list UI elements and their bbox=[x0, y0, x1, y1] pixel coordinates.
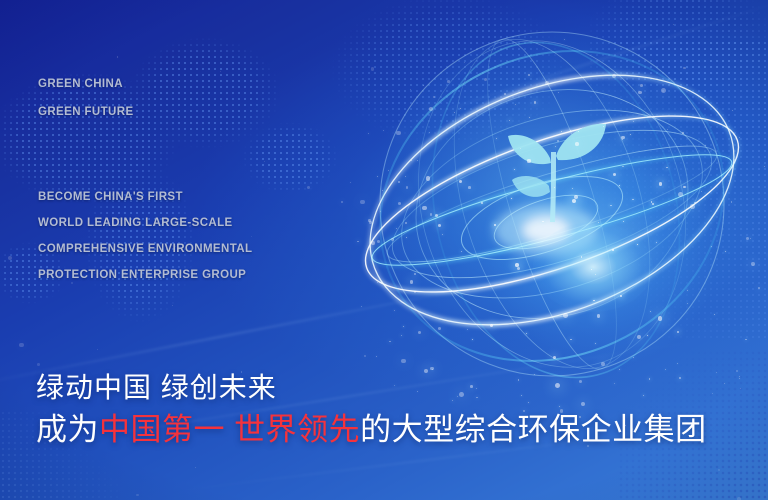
star-particle bbox=[666, 167, 668, 169]
star-particle bbox=[37, 363, 40, 366]
mission-statement-block: BECOME CHINA'S FIRST WORLD LEADING LARGE… bbox=[38, 184, 252, 288]
star-particle bbox=[460, 108, 461, 109]
star-particle bbox=[438, 224, 441, 227]
star-particle bbox=[514, 169, 515, 170]
star-particle bbox=[417, 160, 418, 161]
star-particle bbox=[764, 166, 765, 167]
headline-prefix: 成为 bbox=[36, 412, 99, 447]
star-particle bbox=[454, 112, 455, 113]
star-particle bbox=[481, 202, 484, 205]
headline-line-1: 绿动中国 绿创未来 bbox=[36, 368, 707, 408]
star-particle bbox=[401, 359, 406, 364]
star-particle bbox=[621, 136, 624, 139]
star-particle bbox=[429, 107, 433, 111]
star-particle bbox=[563, 313, 568, 318]
star-particle bbox=[307, 186, 310, 189]
mission-line-2: WORLD LEADING LARGE-SCALE bbox=[38, 210, 252, 236]
star-particle bbox=[542, 221, 543, 222]
star-particle bbox=[464, 62, 465, 63]
dotted-world-map-texture-top bbox=[300, 0, 768, 220]
star-particle bbox=[423, 85, 424, 86]
star-particle bbox=[612, 74, 616, 78]
mission-line-4: PROTECTION ENTERPRISE GROUP bbox=[38, 262, 252, 288]
light-sweep-4 bbox=[390, 0, 768, 129]
star-particle bbox=[528, 74, 530, 76]
star-particle bbox=[383, 130, 384, 131]
star-particle bbox=[490, 324, 493, 327]
star-particle bbox=[687, 303, 688, 304]
star-particle bbox=[659, 182, 662, 185]
star-particle bbox=[377, 240, 380, 243]
star-particle bbox=[612, 249, 614, 251]
star-particle bbox=[575, 142, 579, 146]
star-particle bbox=[613, 173, 616, 176]
star-particle bbox=[725, 251, 726, 252]
star-particle bbox=[364, 355, 366, 357]
star-particle bbox=[19, 343, 24, 348]
star-particle bbox=[396, 228, 397, 229]
star-particle bbox=[638, 91, 642, 95]
star-particle bbox=[442, 234, 443, 235]
star-particle bbox=[195, 467, 196, 468]
star-particle bbox=[750, 238, 751, 239]
star-particle bbox=[380, 211, 381, 212]
star-particle bbox=[724, 383, 725, 384]
star-particle bbox=[433, 96, 435, 98]
star-particle bbox=[371, 241, 375, 245]
star-particle bbox=[683, 186, 686, 189]
star-particle bbox=[731, 201, 733, 203]
star-particle bbox=[553, 356, 556, 359]
star-particle bbox=[403, 326, 404, 327]
star-particle bbox=[598, 222, 599, 223]
star-particle bbox=[682, 132, 683, 133]
star-particle bbox=[368, 219, 371, 222]
star-particle bbox=[429, 132, 430, 133]
star-particle bbox=[640, 84, 643, 87]
star-particle bbox=[401, 335, 402, 336]
star-particle bbox=[391, 238, 394, 241]
star-particle bbox=[677, 331, 679, 333]
star-particle bbox=[558, 92, 559, 93]
star-particle bbox=[396, 131, 401, 136]
star-particle bbox=[667, 129, 668, 130]
star-particle bbox=[369, 221, 372, 224]
globe-ambient-glow bbox=[480, 130, 720, 370]
star-particle bbox=[411, 160, 412, 161]
star-particle bbox=[610, 205, 611, 206]
star-particle bbox=[361, 306, 362, 307]
star-particle bbox=[435, 214, 439, 218]
headline-highlight: 中国第一 世界领先 bbox=[99, 412, 360, 447]
star-particle bbox=[758, 287, 760, 289]
star-particle bbox=[716, 372, 717, 373]
star-particle bbox=[529, 117, 530, 118]
star-particle bbox=[515, 104, 516, 105]
star-particle bbox=[357, 241, 359, 243]
sprout-seedling-icon bbox=[508, 124, 606, 222]
star-particle bbox=[595, 343, 596, 344]
star-particle bbox=[572, 188, 573, 189]
star-particle bbox=[405, 176, 406, 177]
star-particle bbox=[620, 295, 623, 298]
star-particle bbox=[736, 370, 738, 372]
hero-banner: GREEN CHINA GREEN FUTURE BECOME CHINA'S … bbox=[0, 0, 768, 500]
star-particle bbox=[136, 494, 139, 497]
star-particle bbox=[504, 93, 506, 95]
star-particle bbox=[360, 200, 365, 205]
star-particle bbox=[732, 110, 733, 111]
star-particle bbox=[714, 314, 715, 315]
star-particle bbox=[561, 131, 562, 132]
star-particle bbox=[593, 300, 594, 301]
star-particle bbox=[496, 138, 497, 139]
halftone-dots-right bbox=[588, 40, 768, 340]
star-particle bbox=[745, 339, 746, 340]
star-particle bbox=[595, 274, 597, 276]
star-particle bbox=[467, 329, 468, 330]
star-particle bbox=[371, 67, 375, 71]
star-particle bbox=[447, 80, 450, 83]
star-particle bbox=[517, 267, 520, 270]
star-particle bbox=[623, 221, 624, 222]
headline-block: 绿动中国 绿创未来 成为中国第一 世界领先的大型综合环保企业集团 bbox=[36, 368, 707, 452]
star-particle bbox=[647, 335, 648, 336]
star-particle bbox=[630, 134, 631, 135]
star-particle bbox=[368, 133, 369, 134]
star-particle bbox=[633, 121, 634, 122]
star-particle bbox=[557, 140, 559, 142]
star-particle bbox=[656, 242, 657, 243]
star-particle bbox=[637, 335, 642, 340]
star-particle bbox=[484, 78, 487, 81]
star-particle bbox=[394, 310, 395, 311]
star-particle bbox=[422, 206, 427, 211]
star-particle bbox=[690, 204, 694, 208]
star-particle bbox=[705, 145, 706, 146]
star-particle bbox=[389, 341, 391, 343]
star-particle bbox=[511, 198, 512, 199]
star-particle bbox=[97, 349, 98, 350]
star-particle bbox=[574, 195, 578, 199]
star-particle bbox=[468, 186, 471, 189]
tagline-line-2: GREEN FUTURE bbox=[38, 98, 134, 126]
star-particle bbox=[712, 393, 713, 394]
star-particle bbox=[622, 139, 623, 140]
star-particle bbox=[622, 166, 623, 167]
star-particle bbox=[509, 120, 511, 122]
star-particle bbox=[673, 24, 674, 25]
star-particle bbox=[746, 237, 749, 240]
wireframe-globe-graphic bbox=[356, 14, 768, 404]
star-particle bbox=[406, 237, 407, 238]
star-particle bbox=[658, 316, 663, 321]
star-particle bbox=[711, 246, 712, 247]
star-particle bbox=[388, 170, 389, 171]
star-particle bbox=[264, 161, 265, 162]
star-particle bbox=[603, 126, 604, 127]
star-particle bbox=[687, 290, 688, 291]
star-particle bbox=[701, 191, 702, 192]
star-particle bbox=[739, 376, 740, 377]
star-particle bbox=[527, 159, 530, 162]
star-particle bbox=[526, 333, 527, 334]
star-particle bbox=[410, 89, 411, 90]
star-particle bbox=[578, 131, 579, 132]
star-particle bbox=[694, 202, 696, 204]
star-particle bbox=[459, 180, 462, 183]
star-particle bbox=[619, 185, 620, 186]
star-particle bbox=[377, 282, 378, 283]
star-particle bbox=[739, 137, 740, 138]
star-particle bbox=[545, 81, 549, 85]
star-particle bbox=[382, 190, 383, 191]
mission-line-3: COMPREHENSIVE ENVIRONMENTAL bbox=[38, 236, 252, 262]
tagline-block: GREEN CHINA GREEN FUTURE bbox=[38, 70, 134, 126]
star-particle bbox=[398, 202, 401, 205]
tagline-line-1: GREEN CHINA bbox=[38, 70, 134, 98]
star-particle bbox=[341, 201, 343, 203]
star-particle bbox=[751, 262, 755, 266]
star-particle bbox=[678, 192, 683, 197]
star-particle bbox=[652, 203, 654, 205]
star-particle bbox=[581, 256, 583, 258]
star-particle bbox=[555, 146, 556, 147]
star-particle bbox=[633, 357, 634, 358]
star-particle bbox=[414, 291, 417, 294]
star-particle bbox=[515, 263, 519, 267]
star-particle bbox=[570, 130, 571, 131]
star-particle bbox=[677, 363, 678, 364]
star-particle bbox=[534, 101, 536, 103]
star-particle bbox=[410, 280, 413, 283]
mission-line-1: BECOME CHINA'S FIRST bbox=[38, 184, 252, 210]
star-particle bbox=[572, 199, 576, 203]
star-particle bbox=[683, 67, 685, 69]
globe-core-burst bbox=[533, 222, 653, 312]
star-particle bbox=[739, 378, 740, 379]
star-particle bbox=[461, 251, 462, 252]
star-particle bbox=[350, 182, 351, 183]
star-particle bbox=[376, 356, 377, 357]
star-particle bbox=[597, 314, 601, 318]
star-particle bbox=[405, 222, 407, 224]
star-particle bbox=[398, 181, 400, 183]
headline-line-2: 成为中国第一 世界领先的大型综合环保企业集团 bbox=[36, 408, 707, 452]
star-particle bbox=[414, 273, 416, 275]
star-particle bbox=[220, 71, 221, 72]
star-particle bbox=[95, 148, 96, 149]
star-particle bbox=[740, 388, 741, 389]
star-particle bbox=[570, 339, 572, 341]
star-particle bbox=[438, 327, 441, 330]
star-particle bbox=[494, 224, 496, 226]
star-particle bbox=[418, 331, 422, 335]
star-particle bbox=[601, 362, 605, 366]
star-particle bbox=[718, 469, 719, 470]
star-particle bbox=[564, 39, 565, 40]
star-particle bbox=[406, 186, 409, 189]
star-particle bbox=[637, 244, 638, 245]
star-particle bbox=[651, 201, 652, 202]
star-particle bbox=[632, 199, 633, 200]
star-particle bbox=[426, 176, 431, 181]
star-particle bbox=[520, 148, 521, 149]
star-particle bbox=[661, 88, 666, 93]
star-particle bbox=[117, 56, 119, 58]
star-particle bbox=[472, 339, 473, 340]
star-particle bbox=[430, 213, 433, 216]
star-particle bbox=[172, 305, 173, 306]
star-particle bbox=[554, 187, 555, 188]
star-particle bbox=[650, 311, 651, 312]
headline-suffix: 的大型综合环保企业集团 bbox=[360, 412, 707, 447]
dotted-world-map-texture-left bbox=[0, 18, 410, 348]
star-particle bbox=[8, 256, 12, 260]
star-particle bbox=[377, 176, 378, 177]
star-particle bbox=[591, 269, 592, 270]
star-particle bbox=[734, 159, 735, 160]
